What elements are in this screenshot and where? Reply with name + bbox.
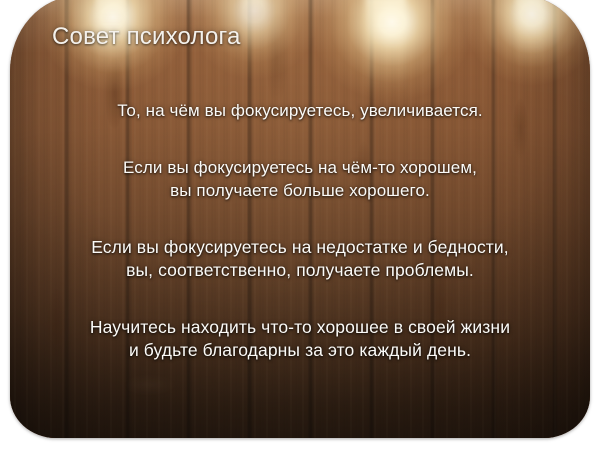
- page-title: Совет психолога: [52, 23, 241, 51]
- quote-paragraph-3: Если вы фокусируетесь на недостатке и бе…: [10, 236, 590, 282]
- quote-line: Научитесь находить что-то хорошее в свое…: [10, 316, 590, 339]
- wooden-board: Совет психолога То, на чём вы фокусирует…: [10, 0, 590, 438]
- quote-line: вы, соответственно, получаете проблемы.: [10, 259, 590, 282]
- quote-paragraph-2: Если вы фокусируетесь на чём-то хорошем,…: [10, 156, 590, 202]
- quote-paragraph-1: То, на чём вы фокусируетесь, увеличивает…: [10, 99, 590, 122]
- poster-canvas: Совет психолога То, на чём вы фокусирует…: [0, 0, 600, 450]
- quote-line: вы получаете больше хорошего.: [10, 179, 590, 202]
- quote-line: Если вы фокусируетесь на чём-то хорошем,: [10, 156, 590, 179]
- quote-paragraph-4: Научитесь находить что-то хорошее в свое…: [10, 316, 590, 362]
- quote-line: То, на чём вы фокусируетесь, увеличивает…: [10, 99, 590, 122]
- quote-line: Если вы фокусируетесь на недостатке и бе…: [10, 236, 590, 259]
- quote-line: и будьте благодарны за это каждый день.: [10, 339, 590, 362]
- poster-content: Совет психолога То, на чём вы фокусирует…: [10, 0, 590, 438]
